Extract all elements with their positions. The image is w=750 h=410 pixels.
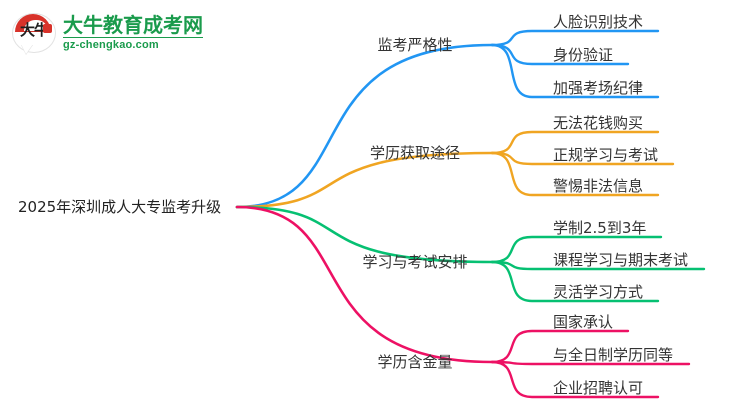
mindmap-leaf-1-1[interactable]: 人脸识别技术 [553,13,643,31]
mindmap-leaf-connector-1-1 [492,31,658,45]
mindmap-branch-4[interactable]: 学历含金量 [377,353,452,371]
mindmap-leaf-1-3[interactable]: 加强考场纪律 [553,79,643,97]
mindmap-trunk-4 [237,207,492,362]
mindmap-leaf-2-1[interactable]: 无法花钱购买 [553,114,643,132]
mindmap-leaf-3-1[interactable]: 学制2.5到3年 [553,219,646,237]
mindmap-leaf-4-1[interactable]: 国家承认 [553,313,613,331]
mindmap-leaf-1-2[interactable]: 身份验证 [553,46,613,64]
mindmap-root-node[interactable]: 2025年深圳成人大专监考升级 [18,198,221,216]
mindmap-leaf-2-3[interactable]: 警惕非法信息 [553,177,643,195]
mindmap-branch-2[interactable]: 学历获取途径 [370,144,460,162]
mindmap-branch-3[interactable]: 学习与考试安排 [362,253,467,271]
mindmap-branch-1[interactable]: 监考严格性 [377,36,452,54]
mindmap-leaf-4-2[interactable]: 与全日制学历同等 [553,346,673,364]
mindmap-leaf-3-3[interactable]: 灵活学习方式 [553,283,643,301]
mindmap-trunk-1 [237,45,492,207]
mindmap-leaf-3-2[interactable]: 课程学习与期末考试 [553,251,688,269]
mindmap-leaf-4-3[interactable]: 企业招聘认可 [553,379,643,397]
mindmap-canvas: 人脸识别技术身份验证加强考场纪律监考严格性无法花钱购买正规学习与考试警惕非法信息… [0,0,750,410]
mindmap-leaf-2-2[interactable]: 正规学习与考试 [553,146,658,164]
